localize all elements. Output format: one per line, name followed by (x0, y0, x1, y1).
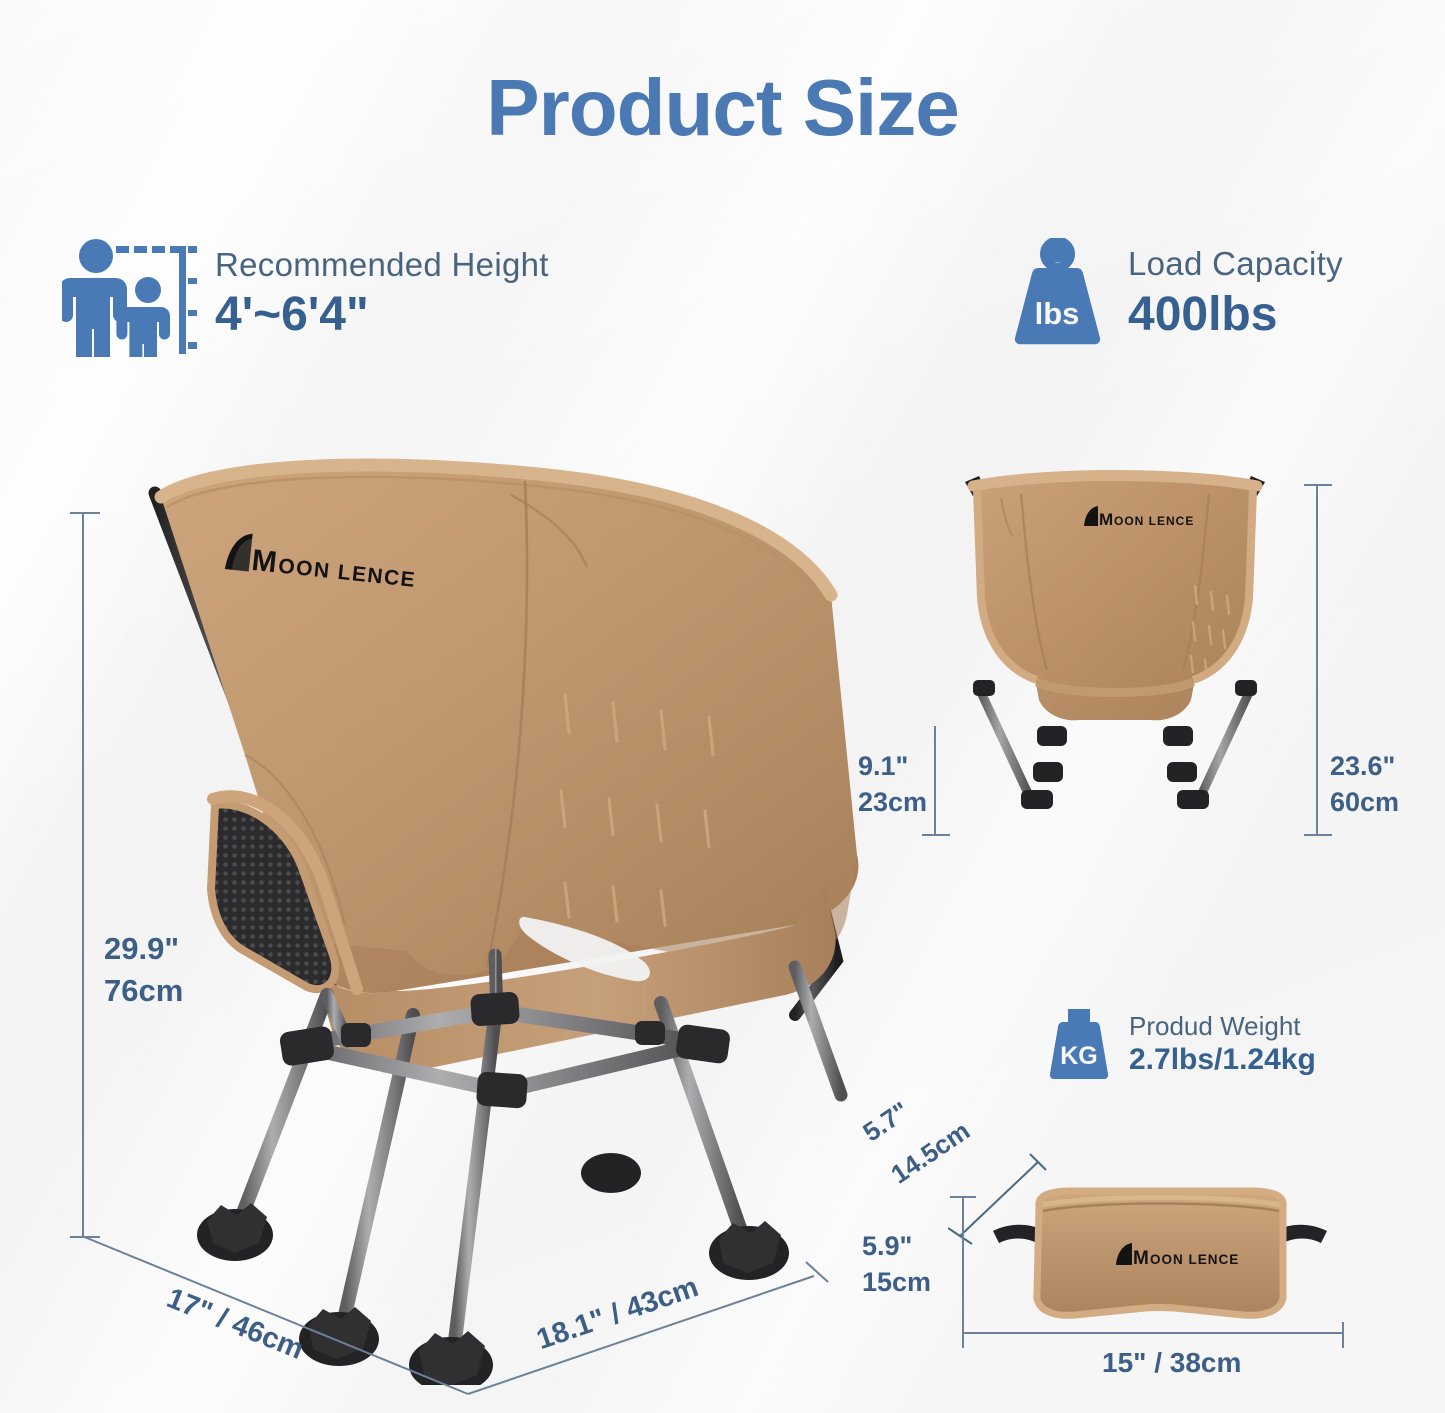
page-title: Product Size (0, 62, 1445, 154)
back-height-dim-label: 23.6" 60cm (1330, 748, 1399, 821)
feature-recommended-height: Recommended Height 4'~6'4" (62, 232, 549, 357)
feature-product-weight: KG Produd Weight 2.7lbs/1.24kg (1043, 1006, 1316, 1084)
back-height-tick-bottom (1304, 834, 1332, 836)
chair-height-tick-top (70, 512, 100, 514)
weight-kg-icon-unit-text: KG (1060, 1042, 1098, 1070)
chair-height-dim-line (82, 512, 84, 1238)
bag-height-dim-line (962, 1196, 964, 1348)
product-weight-value: 2.7lbs/1.24kg (1129, 1042, 1316, 1078)
seat-height-dim-line (934, 726, 936, 836)
product-weight-label: Produd Weight (1129, 1012, 1316, 1041)
back-height-tick-top (1304, 484, 1332, 486)
seat-height-dim-label: 9.1" 23cm (858, 748, 927, 821)
back-height-dim-line (1316, 484, 1318, 836)
chair-height-dim-label: 29.9" 76cm (104, 928, 183, 1012)
feature-load-capacity: lbs Load Capacity 400lbs (1005, 238, 1343, 350)
two-people-ruler-icon (62, 232, 197, 357)
weight-icon-unit-text: lbs (1035, 296, 1080, 331)
bag-height-dim-label: 5.9" 15cm (862, 1228, 931, 1301)
product-size-infographic: Product Size (0, 0, 1445, 1413)
bag-depth-dim-line (948, 1140, 1078, 1250)
bag-width-dim-label: 15" / 38cm (1102, 1344, 1241, 1382)
load-capacity-value: 400lbs (1128, 287, 1343, 342)
bag-width-dim-line (962, 1332, 1344, 1334)
weight-lbs-icon: lbs (1005, 238, 1110, 350)
svg-text:OON LENCE: OON LENCE (1114, 514, 1194, 528)
svg-text:M: M (1133, 1248, 1149, 1269)
bag-width-tick-right (1342, 1322, 1344, 1348)
svg-text:OON LENCE: OON LENCE (1150, 1252, 1239, 1267)
bag-height-tick-top (950, 1196, 976, 1198)
load-capacity-label: Load Capacity (1128, 246, 1343, 282)
weight-kg-icon: KG (1043, 1006, 1115, 1084)
camping-chair-front-image: M OON LENCE (955, 470, 1275, 840)
recommended-height-value: 4'~6'4" (215, 287, 549, 342)
svg-text:M: M (1099, 510, 1113, 529)
recommended-height-label: Recommended Height (215, 247, 549, 283)
svg-text:M: M (250, 544, 279, 580)
seat-height-tick-bottom (922, 834, 950, 836)
